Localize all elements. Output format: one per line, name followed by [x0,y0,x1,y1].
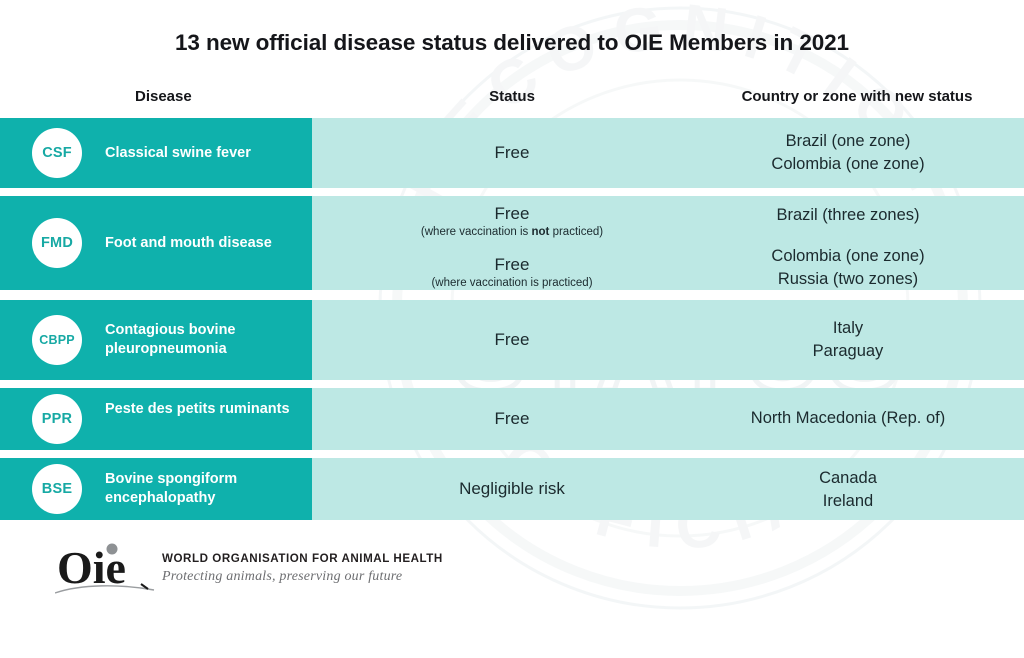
country-cell: Canada Ireland [672,467,1024,513]
table-row: FMD Foot and mouth disease Free (where v… [0,196,1024,290]
status-text: Negligible risk [362,478,662,500]
disease-badge: PPR [32,394,82,444]
column-header-country: Country or zone with new status [692,88,1022,105]
country-group: Brazil (one zone) Colombia (one zone) [672,130,1024,176]
status-text: Free [362,142,662,164]
status-note-post: practiced) [549,226,603,238]
status-text: Free [362,329,662,351]
status-cell: Free [362,408,662,430]
country-item: Ireland [672,490,1024,513]
table-row: CBPP Contagious bovine pleuropneumonia F… [0,300,1024,380]
column-header-status: Status [412,88,612,105]
status-note: (where vaccination is practiced) [362,276,662,291]
disease-name: Foot and mouth disease [105,234,305,253]
column-header-disease: Disease [135,88,192,105]
country-item: Brazil (one zone) [672,130,1024,153]
disease-badge: FMD [32,218,82,268]
country-group: Brazil (three zones) [672,204,1024,227]
status-cell: Free [362,329,662,351]
disease-name: Contagious bovine pleuropneumonia [105,321,305,359]
country-cell: Brazil (one zone) Colombia (one zone) [672,130,1024,176]
disease-badge: CSF [32,128,82,178]
disease-name: Bovine spongiform encephalopathy [105,470,305,508]
country-cell: North Macedonia (Rep. of) [672,407,1024,430]
page-title: 13 new official disease status delivered… [0,30,1024,56]
country-item: Colombia (one zone) [672,245,1024,268]
country-group: North Macedonia (Rep. of) [672,407,1024,430]
status-text: Free [362,408,662,430]
oie-logo-text: WORLD ORGANISATION FOR ANIMAL HEALTH Pro… [162,552,443,585]
country-item: Paraguay [672,340,1024,363]
country-group: Italy Paraguay [672,317,1024,363]
status-note: (where vaccination is not practiced) [362,225,662,240]
country-group: Canada Ireland [672,467,1024,513]
country-group: Colombia (one zone) Russia (two zones) [672,245,1024,291]
oie-tagline: Protecting animals, preserving our futur… [162,569,443,585]
country-item: Canada [672,467,1024,490]
status-cell: Free [362,142,662,164]
disease-badge: CBPP [32,315,82,365]
country-cell: Italy Paraguay [672,317,1024,363]
status-block: Negligible risk [362,478,662,500]
country-item: Colombia (one zone) [672,153,1024,176]
table-row: CSF Classical swine fever Free Brazil (o… [0,118,1024,188]
oie-organisation-name: WORLD ORGANISATION FOR ANIMAL HEALTH [162,552,443,565]
status-note-pre: (where vaccination is [421,226,532,238]
disease-name: Classical swine fever [105,144,305,163]
status-block: Free (where vaccination is not practiced… [362,203,662,240]
status-cell: Negligible risk [362,478,662,500]
disease-status-table: CSF Classical swine fever Free Brazil (o… [0,0,1024,530]
status-text: Free [362,203,662,225]
country-item: Brazil (three zones) [672,204,1024,227]
country-item: North Macedonia (Rep. of) [672,407,1024,430]
status-block: Free [362,329,662,351]
status-note-pre: (where vaccination is practiced) [431,277,592,289]
oie-logo-mark-icon: Oie [55,540,160,598]
status-note-emphasis: not [532,226,550,238]
disease-badge: BSE [32,464,82,514]
status-block: Free [362,142,662,164]
table-row: BSE Bovine spongiform encephalopathy Neg… [0,458,1024,520]
table-row: PPR Peste des petits ruminants Free Nort… [0,388,1024,450]
status-text: Free [362,254,662,276]
country-cell: Brazil (three zones) Colombia (one zone)… [672,204,1024,291]
disease-name: Peste des petits ruminants [105,400,305,419]
country-item: Italy [672,317,1024,340]
status-cell: Free (where vaccination is not practiced… [362,203,662,291]
status-block: Free (where vaccination is practiced) [362,254,662,291]
country-item: Russia (two zones) [672,268,1024,291]
status-block: Free [362,408,662,430]
